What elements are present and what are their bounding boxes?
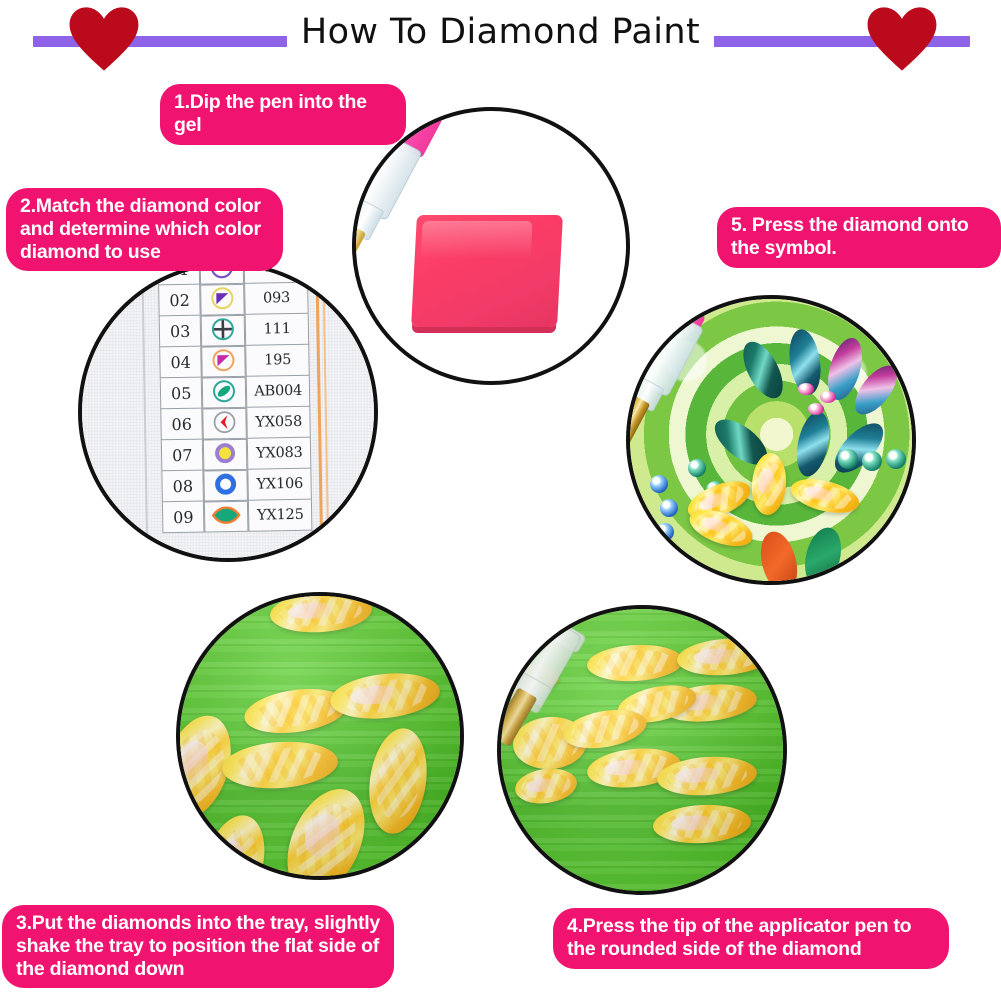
step-4-image <box>497 605 787 895</box>
chart-code: 07 <box>161 439 203 471</box>
table-row: 07 YX083 <box>161 437 311 471</box>
canvas-gem <box>650 475 668 493</box>
chart-code: 03 <box>159 315 201 347</box>
chart-guide-line <box>141 262 149 562</box>
step-2-label: 2.Match the diamond color and determine … <box>6 188 283 271</box>
canvas-gem <box>688 459 706 477</box>
table-row: 05 AB004 <box>160 375 310 409</box>
step-1-image <box>352 107 630 385</box>
pen-tip <box>626 395 650 450</box>
leaf-green-orange-outline-icon <box>204 500 249 532</box>
diamond <box>221 738 340 792</box>
diamond <box>328 668 442 723</box>
step-5-label: 5. Press the diamond onto the symbol. <box>717 207 1001 268</box>
chart-dmc: 093 <box>245 282 308 314</box>
step-4-label: 4.Press the tip of the applicator pen to… <box>553 908 949 969</box>
pen-picking-up-diamond-from-tray <box>501 609 783 891</box>
table-row: 02 093 <box>159 282 309 316</box>
chart-code: 08 <box>162 470 204 502</box>
color-chart-table: 01 026 02 <box>158 262 313 533</box>
canvas-gem <box>791 409 834 480</box>
placing-diamond-on-mandala-canvas <box>630 299 912 581</box>
diamond <box>272 777 380 880</box>
diamond <box>176 707 243 827</box>
table-row: 04 195 <box>160 344 310 378</box>
canvas-gem <box>820 391 836 403</box>
circle-blue-ring-icon <box>204 469 249 501</box>
page-header: How To Diamond Paint <box>0 0 1001 78</box>
step-3-image <box>176 592 464 880</box>
step-3-label: 3.Put the diamonds into the tray, slight… <box>2 905 394 988</box>
canvas-gem <box>838 449 858 469</box>
canvas-leaf <box>755 528 803 585</box>
diamond <box>269 592 374 636</box>
applicator-pen <box>497 612 593 773</box>
diamond <box>586 643 684 684</box>
chart-code: 06 <box>161 408 203 440</box>
diamond <box>561 704 650 754</box>
pen-dipping-into-gel-pad <box>356 111 626 381</box>
pen-body <box>509 618 583 708</box>
printed-color-symbol-chart: 01 026 02 <box>82 266 374 558</box>
canvas-gem <box>808 403 824 415</box>
chart-dmc: YX125 <box>249 499 312 531</box>
canvas-gem <box>798 383 814 395</box>
diamond <box>511 714 588 771</box>
circle-plus-icon <box>201 314 246 346</box>
diamond <box>242 683 351 739</box>
step-1-label: 1.Dip the pen into the gel <box>160 84 406 145</box>
yellow-diamonds-in-green-tray <box>180 596 460 876</box>
diamond <box>363 725 433 838</box>
circle-teal-slash-oval-icon <box>202 376 247 408</box>
chart-code: 05 <box>160 377 202 409</box>
diamond <box>676 636 774 679</box>
circle-magenta-triangle-icon <box>202 345 247 377</box>
diamond <box>585 744 682 792</box>
diamond <box>652 802 752 845</box>
canvas-leaf <box>799 524 847 585</box>
canvas-gem <box>660 499 678 517</box>
canvas-gem <box>827 415 892 480</box>
diamond <box>497 661 561 699</box>
chart-code: 04 <box>160 346 202 378</box>
table-row: 09 YX125 <box>162 499 312 533</box>
pen-tip <box>497 687 538 746</box>
canvas-gem <box>862 451 882 471</box>
chart-code: 02 <box>159 284 201 316</box>
page-title-text: How To Diamond Paint <box>287 12 714 52</box>
table-row: 06 YX058 <box>161 406 311 440</box>
chart-dmc: 111 <box>246 313 309 345</box>
circle-red-chevron-left-icon <box>203 407 248 439</box>
poster-root: How To Diamond Paint 1.Dip the pen into … <box>0 0 1001 1001</box>
circle-yellow-filled-dot-icon <box>203 438 248 470</box>
page-title: How To Diamond Paint <box>0 12 1001 52</box>
chart-dmc: 195 <box>246 344 309 376</box>
step-5-image <box>626 295 916 585</box>
diamond <box>659 680 758 726</box>
table-row: 08 YX106 <box>162 468 312 502</box>
chart-dmc: YX106 <box>248 468 311 500</box>
canvas-gem <box>656 523 674 541</box>
pen-grip <box>505 669 553 714</box>
chart-code: 09 <box>162 501 204 533</box>
diamond <box>614 679 699 729</box>
chart-dmc: YX058 <box>247 406 310 438</box>
chart-dmc: YX083 <box>248 437 311 469</box>
step-2-image: 01 026 02 <box>78 262 378 562</box>
chart-orange-line-secondary <box>322 262 330 562</box>
applicator-pen <box>626 295 722 470</box>
gel-pad <box>411 215 563 327</box>
diamond <box>513 765 579 807</box>
canvas-gem <box>886 449 906 469</box>
diamond <box>656 754 758 799</box>
canvas-gem-yellow <box>787 473 862 519</box>
circle-purple-triangle-icon <box>201 283 246 315</box>
pen-flange <box>537 614 587 654</box>
diamond <box>191 808 275 880</box>
table-row: 03 111 <box>159 313 309 347</box>
chart-dmc: AB004 <box>247 375 310 407</box>
canvas-gem <box>735 336 791 405</box>
